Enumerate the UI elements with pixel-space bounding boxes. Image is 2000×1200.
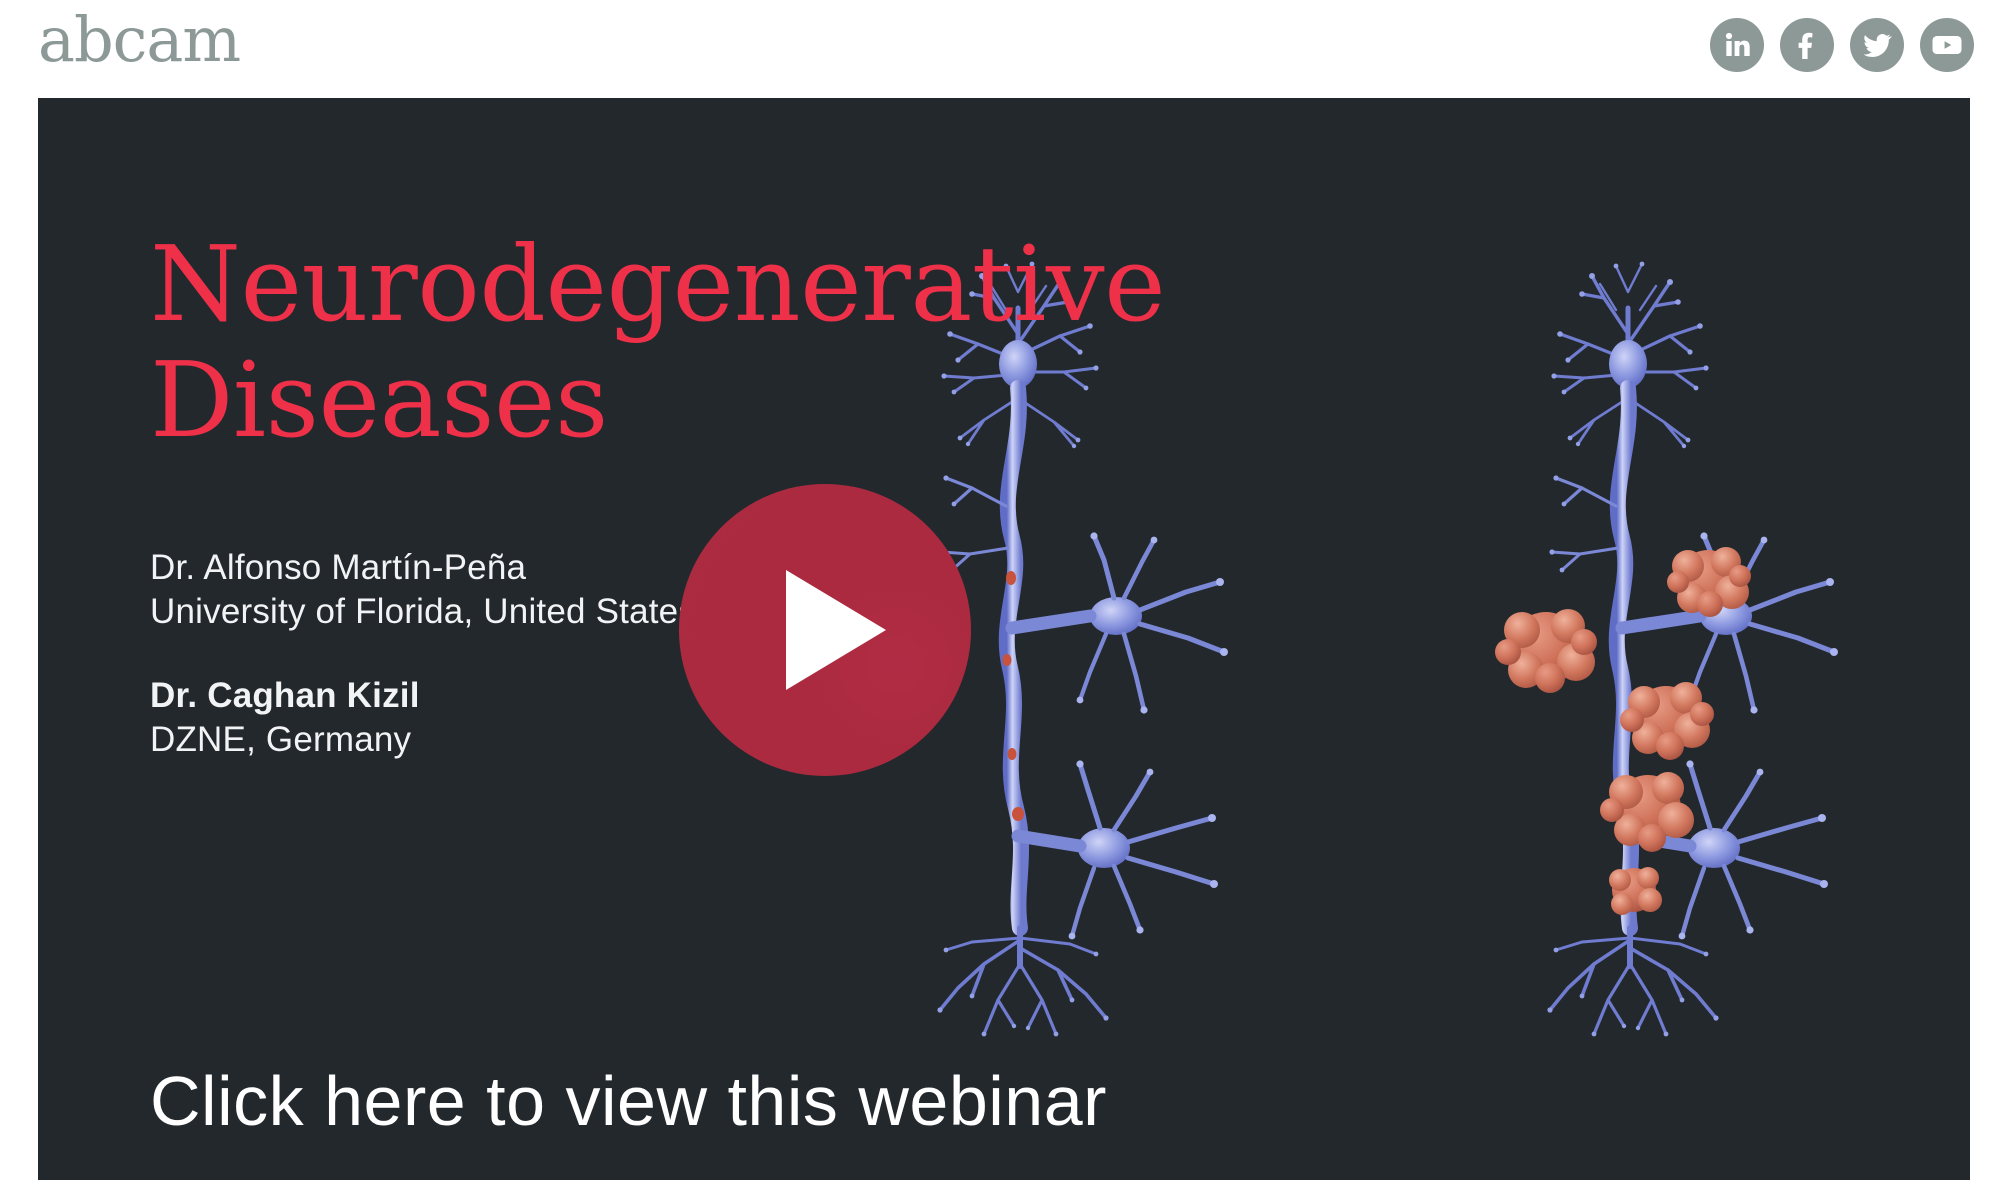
page-title: Neurodegenerative Diseases [150, 226, 1250, 458]
twitter-icon[interactable] [1850, 18, 1904, 72]
play-triangle-icon [786, 570, 886, 690]
youtube-icon[interactable] [1920, 18, 1974, 72]
webinar-hero-panel[interactable]: Neurodegenerative Diseases Dr. Alfonso M… [38, 98, 1970, 1180]
neuron-with-amyloid-plaques [1495, 262, 1838, 1037]
speaker-entry: Dr. Caghan Kizil DZNE, Germany [150, 674, 696, 762]
abcam-logo[interactable]: abcam [38, 6, 240, 74]
view-webinar-link[interactable]: Click here to view this webinar [150, 1060, 1107, 1142]
speaker-list: Dr. Alfonso Martín-Peña University of Fl… [150, 546, 696, 762]
speaker-name: Dr. Caghan Kizil [150, 674, 696, 718]
site-header: abcam [0, 0, 2000, 98]
speaker-affiliation: University of Florida, United States [150, 590, 696, 634]
speaker-name: Dr. Alfonso Martín-Peña [150, 546, 696, 590]
webinar-promo-page: abcam [0, 0, 2000, 1200]
play-button[interactable] [679, 484, 971, 776]
linkedin-icon[interactable] [1710, 18, 1764, 72]
social-links [1710, 18, 1974, 72]
facebook-icon[interactable] [1780, 18, 1834, 72]
speaker-entry: Dr. Alfonso Martín-Peña University of Fl… [150, 546, 696, 634]
speaker-affiliation: DZNE, Germany [150, 718, 696, 762]
